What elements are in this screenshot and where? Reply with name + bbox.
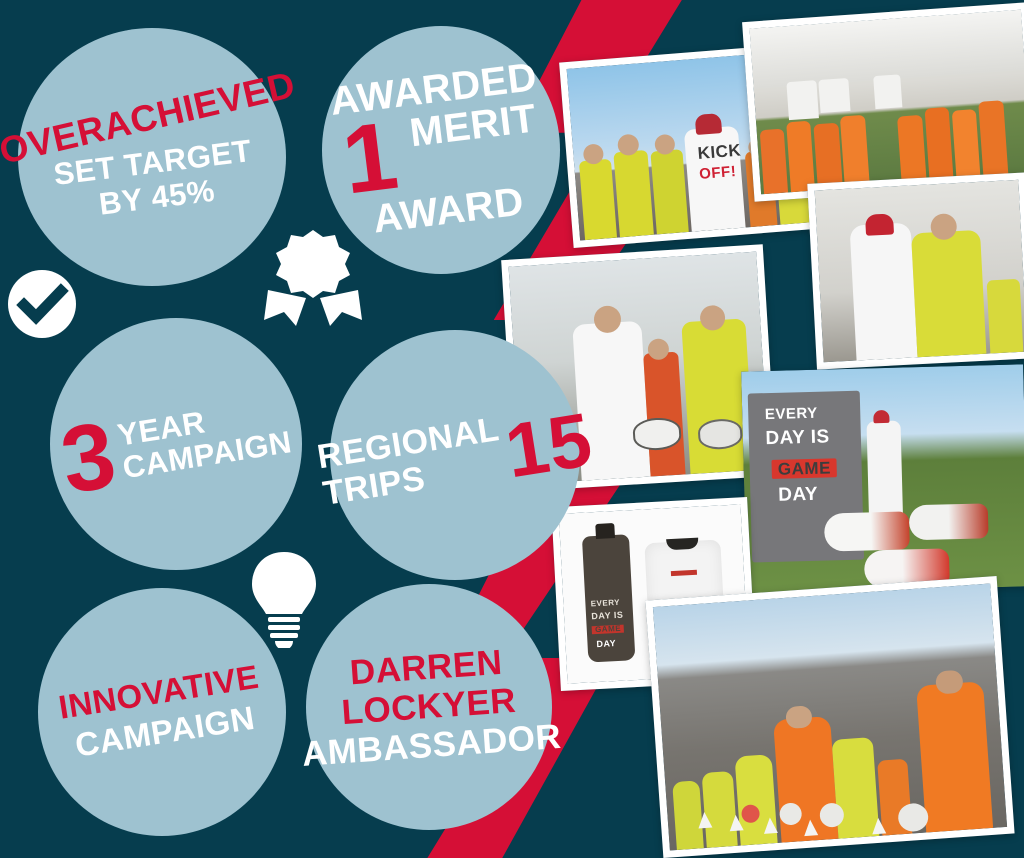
infographic-canvas: KICK OFF! (0, 0, 1024, 858)
gameday-banner-line4: DAY (778, 485, 818, 505)
photo-kickoff-shirt-line2: OFF! (699, 164, 737, 182)
photo-marquee-crowd (742, 2, 1024, 202)
photo-handshake (807, 172, 1024, 369)
merch-bottle-line3: GAME (592, 625, 624, 635)
lightbulb-icon (246, 548, 322, 648)
merch-bottle-line4: DAY (596, 639, 616, 649)
gameday-banner-line2: DAY IS (765, 427, 830, 448)
photo-kickoff-shirt-line1: KICK (697, 142, 742, 162)
check-mark-icon (6, 268, 78, 340)
stat-circle-regional-trips[interactable]: REGIONAL TRIPS 15 (330, 330, 580, 580)
merch-bottle-line1: EVERY (591, 599, 621, 609)
regional-trips-number: 15 (501, 409, 595, 484)
photo-team-drill (645, 576, 1014, 858)
photo-gameday-banner: EVERY DAY IS GAME DAY (741, 364, 1024, 593)
stat-circle-campaign-years[interactable]: 3 YEAR CAMPAIGN (50, 318, 302, 570)
campaign-years-number: 3 (57, 417, 121, 500)
merch-bottle-line2: DAY IS (591, 611, 623, 622)
awarded-number: 1 (339, 115, 402, 203)
gameday-banner-line1: EVERY (765, 405, 818, 421)
stat-circle-ambassador[interactable]: DARREN LOCKYER AMBASSADOR (306, 584, 552, 830)
stat-circle-overachieved[interactable]: OVERACHIEVED SET TARGET BY 45% (18, 28, 286, 286)
gameday-banner-line3: GAME (772, 458, 837, 479)
award-rosette-icon (262, 228, 364, 340)
